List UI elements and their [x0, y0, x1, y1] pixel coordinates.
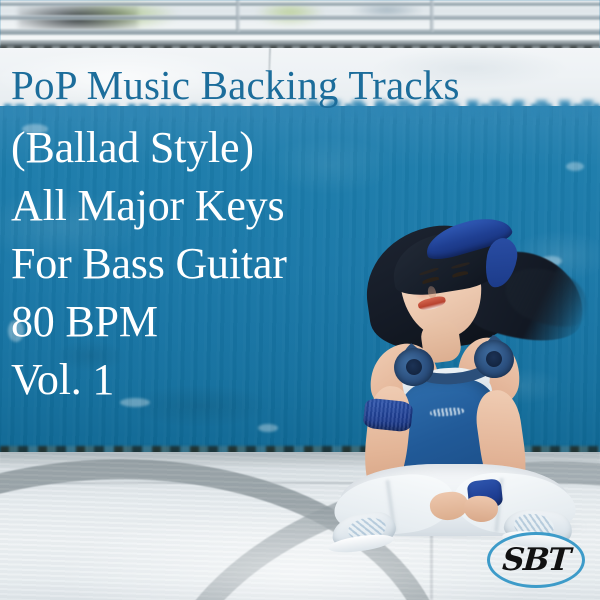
- sbt-logo-text: SBT: [485, 532, 587, 588]
- paint-edge-rough-right: [300, 100, 600, 112]
- paint-chip: [8, 320, 24, 342]
- railing-bar-middle: [0, 15, 600, 20]
- paint-chip: [120, 398, 150, 407]
- album-cover: PoP Music Backing Tracks (Ballad Style) …: [0, 0, 600, 600]
- railing-post-right: [430, 0, 434, 32]
- blue-armband: [363, 398, 414, 433]
- sbt-logo: SBT: [487, 532, 585, 588]
- railing-post-left: [236, 0, 240, 32]
- photo-subject-woman: [318, 218, 600, 518]
- paint-chip: [566, 162, 584, 171]
- paint-chip: [22, 124, 48, 134]
- paint-chip: [258, 424, 278, 432]
- railing-bar-bottom: [0, 29, 600, 35]
- railing-bar-top: [0, 2, 600, 6]
